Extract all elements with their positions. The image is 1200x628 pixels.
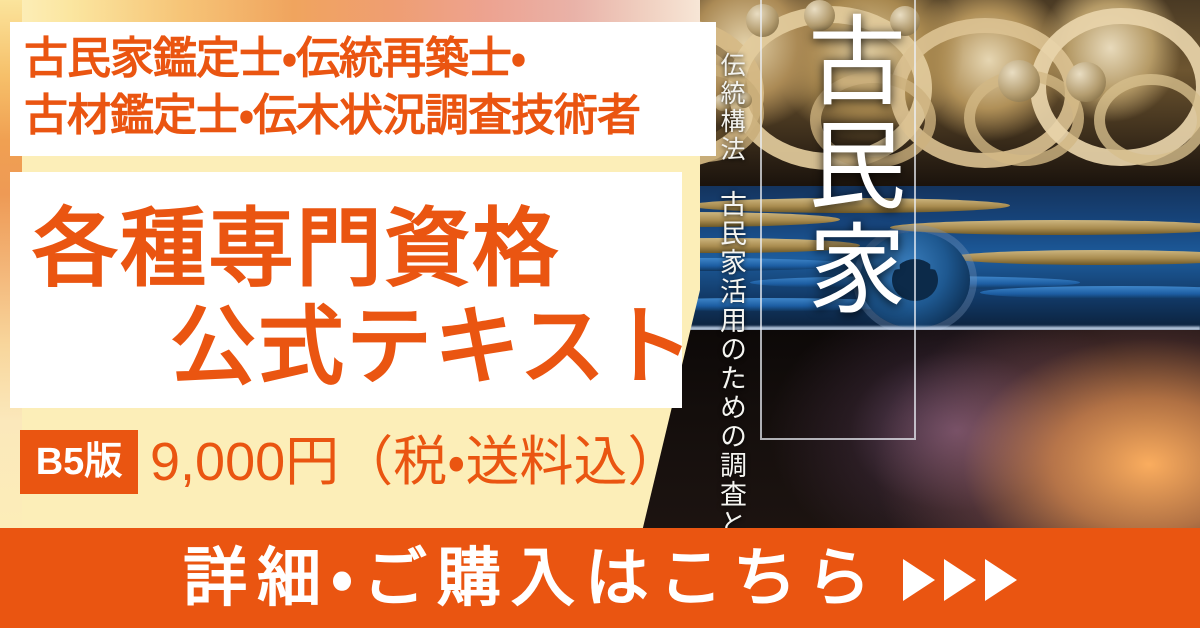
certifications-card: 古民家鑑定士・伝統再築士・ 古材鑑定士・伝木状況調査技術者 (10, 22, 716, 156)
format-badge: B5版 (20, 430, 138, 494)
certifications-text: 古民家鑑定士・伝統再築士・ 古材鑑定士・伝木状況調査技術者 (24, 30, 640, 144)
price-text: 9,000円（税・送料込） (150, 432, 682, 492)
cover-side-text-top: 伝統構法 (712, 52, 748, 164)
triangle-right-icon (903, 559, 1017, 601)
cover-title: 古民家 (770, 10, 902, 322)
headline-line-2: 公式テキスト (170, 276, 695, 401)
certifications-line-2: 古材鑑定士・伝木状況調査技術者 (24, 87, 640, 144)
promo-banner: 古民家 伝統構法 古民家活用のための調査と再生の 古民家鑑定士・伝統再築士・ 古… (0, 0, 1200, 628)
cta-bar[interactable]: 詳細・ご購入はこちら (0, 528, 1200, 628)
headline-card: 各種専門資格 公式テキスト (10, 172, 682, 408)
certifications-line-1: 古民家鑑定士・伝統再築士・ (24, 30, 640, 87)
cta-label[interactable]: 詳細・ご購入はこちら (183, 546, 881, 610)
format-badge-label: B5版 (36, 443, 123, 481)
